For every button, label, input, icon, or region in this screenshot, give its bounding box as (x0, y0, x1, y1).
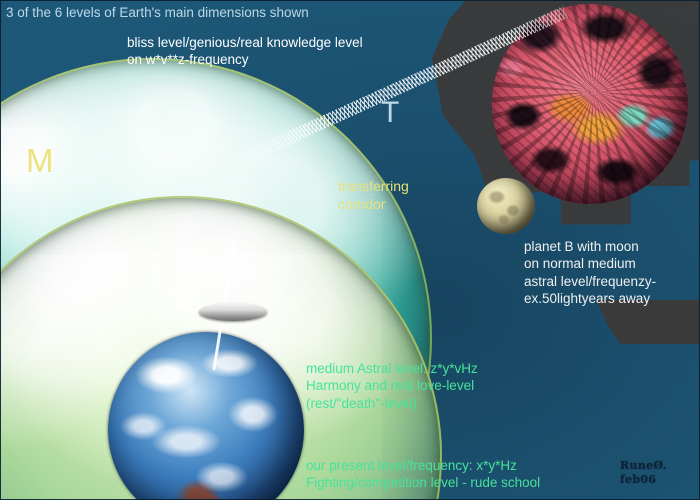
bliss-line-2: on w*v**z-frequency (127, 52, 249, 67)
label-letter-t: T (381, 98, 399, 128)
signature-date: feb06 (620, 473, 656, 486)
planet-b-line-3: astral level/frequenzy- (524, 274, 656, 289)
illustration-canvas: 3 of the 6 levels of Earth's main dimens… (0, 0, 700, 500)
astral-line-2: Harmony and real love-level (306, 378, 474, 393)
bliss-line-1: bliss level/genious/real knowledge level (127, 35, 363, 50)
planet-b-line-4: ex.50lightyears away (524, 291, 650, 306)
corridor-line-1: transferring (338, 178, 409, 194)
transferring-corridor-label: transferring corridor (338, 178, 409, 214)
label-letter-a: A (173, 290, 193, 320)
artist-signature: RuneØ.feb06 (620, 459, 667, 487)
bliss-level-label: bliss level/genious/real knowledge level… (127, 34, 363, 69)
astral-line-3: (rest/"death"-level) (306, 396, 417, 411)
planet-b-line-2: on normal medium (524, 256, 636, 271)
astral-level-description: medium Astral level: z*y*vHz Harmony and… (306, 360, 478, 412)
page-title: 3 of the 6 levels of Earth's main dimens… (6, 4, 309, 21)
present-line-2: Fighting/competition level - rude school (306, 475, 540, 490)
present-level-description: our present level/frequency: x*y*Hz Figh… (306, 457, 540, 492)
planet-b-line-1: planet B with moon (524, 239, 639, 254)
ufo-disc (199, 303, 267, 321)
label-letter-m: M (26, 144, 54, 177)
astral-line-1: medium Astral level: z*y*vHz (306, 361, 478, 376)
corridor-line-2: corridor (338, 196, 385, 212)
signature-name: RuneØ. (620, 459, 667, 472)
present-line-1: our present level/frequency: x*y*Hz (306, 458, 517, 473)
moon-sphere (477, 178, 535, 234)
planet-b-description: planet B with moon on normal medium astr… (524, 238, 656, 307)
